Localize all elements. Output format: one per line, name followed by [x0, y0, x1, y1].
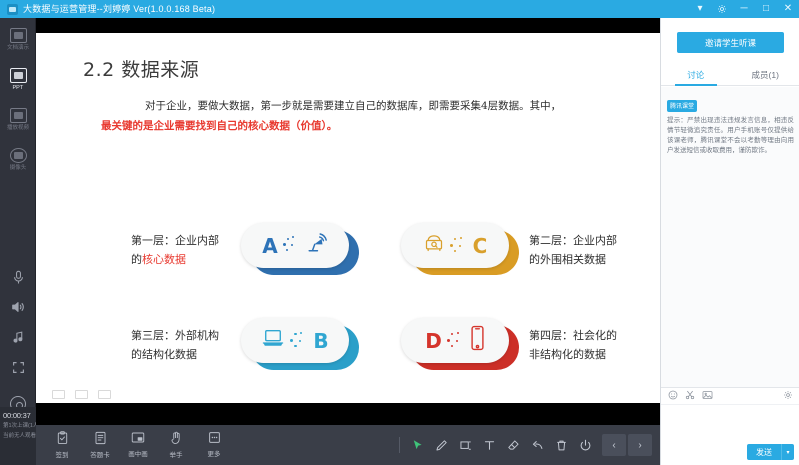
layer-1-label-line2: 的核心数据 — [131, 250, 219, 269]
bottom-item-checkin[interactable]: 签到 — [44, 431, 80, 460]
answer-card-icon — [94, 431, 107, 450]
slide-paragraph: 对于企业，要做大数据，第一步就是需要建立自己的数据库，即需要采集4层数据。其中，… — [101, 96, 601, 136]
more-icon — [208, 431, 221, 449]
bottom-item-label: 画中画 — [128, 451, 148, 459]
slide-control-2-icon[interactable] — [75, 390, 88, 399]
chat-message-list[interactable]: 腾讯课堂 提示：严禁出现违法违规发言信息，相违反情节轻微追究责任。用户手机账号仅… — [661, 87, 799, 387]
smartphone-icon — [470, 325, 485, 356]
layer-2-pill: C — [401, 223, 519, 275]
layer-2-letter: C — [473, 234, 488, 258]
layer-1-pill-face: A — [241, 223, 349, 268]
gear-icon[interactable] — [783, 387, 793, 405]
emoji-icon[interactable] — [668, 387, 678, 405]
speaker-icon[interactable] — [0, 292, 36, 322]
undo-icon[interactable] — [526, 434, 548, 456]
sidebar-item-video[interactable]: 播放视频 — [0, 98, 36, 138]
slide-title: 2.2 数据来源 — [83, 55, 199, 82]
app-window: 大数据与运营管理--刘婷婷 Ver(1.0.0.168 Beta) ▾ ─ □ … — [0, 0, 799, 465]
ppt-icon — [10, 68, 27, 83]
menu-caret-icon[interactable]: ▾ — [689, 0, 711, 18]
music-icon[interactable] — [0, 322, 36, 352]
telephone-icon — [423, 233, 445, 258]
shape-icon[interactable] — [454, 434, 476, 456]
laptop-icon — [261, 328, 285, 353]
bottom-item-label: 举手 — [170, 452, 183, 460]
send-controls: 发送 ▾ — [747, 444, 794, 460]
layer-1-label-line1: 第一层：企业内部 — [131, 231, 219, 250]
sidebar-item-label: 文档演示 — [7, 45, 29, 51]
layer-4-label-line2: 非结构化的数据 — [529, 345, 617, 364]
layer-2-dots — [449, 235, 469, 257]
bottom-item-label: 更多 — [208, 451, 221, 459]
bottom-item-raise-hand[interactable]: 举手 — [158, 431, 194, 460]
minimize-button[interactable]: ─ — [733, 0, 755, 18]
video-icon — [10, 108, 27, 123]
bottom-item-answer-card[interactable]: 答题卡 — [82, 431, 118, 460]
laser-pointer-icon[interactable] — [574, 434, 596, 456]
layer-4-pill: D — [401, 318, 519, 370]
elapsed-time: 00:00:37 — [3, 411, 34, 420]
annotation-tools — [395, 434, 602, 456]
bottom-item-pip[interactable]: 画中画 — [120, 431, 156, 459]
timer-viewer-info: 当前无人观看直播 — [3, 433, 34, 440]
presentation-stage: 2.2 数据来源 对于企业，要做大数据，第一步就是需要建立自己的数据库，即需要采… — [36, 18, 660, 425]
fullscreen-icon[interactable] — [0, 352, 36, 382]
title-bar: 大数据与运营管理--刘婷婷 Ver(1.0.0.168 Beta) ▾ ─ □ … — [0, 0, 799, 18]
image-icon[interactable] — [702, 387, 713, 405]
bottom-toolbar-left-group: 签到 答题卡 画中画 — [36, 431, 232, 460]
sidebar-item-label: PPT — [13, 85, 24, 91]
sidebar-item-label: 播放视频 — [7, 125, 29, 131]
next-slide-button[interactable]: › — [628, 434, 652, 456]
checkin-icon — [56, 431, 69, 450]
bottom-item-label: 答题卡 — [90, 452, 110, 460]
sidebar-item-document[interactable]: 文档演示 — [0, 18, 36, 58]
text-icon[interactable] — [478, 434, 500, 456]
cursor-icon[interactable] — [406, 434, 428, 456]
layer-1-pill: A — [241, 223, 359, 275]
slide-footer-controls[interactable] — [52, 390, 111, 399]
raise-hand-icon — [170, 431, 182, 450]
paragraph-line-2-highlight: 最关键的是企业需要找到自己的核心数据（价值）。 — [101, 116, 601, 136]
prev-slide-button[interactable]: ‹ — [602, 434, 626, 456]
layer-2-label: 第二层：企业内部 的外围相关数据 — [529, 231, 617, 269]
left-sidebar: 文档演示 PPT 播放视频 摄像头 — [0, 18, 36, 465]
layer-1-label: 第一层：企业内部 的核心数据 — [131, 231, 219, 269]
timer-session-info: 第1次上课(1人) — [3, 423, 34, 430]
layer-3-pill-face: B — [241, 318, 349, 363]
window-title: 大数据与运营管理--刘婷婷 Ver(1.0.0.168 Beta) — [23, 0, 215, 18]
app-logo-icon — [7, 4, 18, 15]
layer-1-label-prefix: 的 — [131, 253, 142, 266]
sidebar-gap — [0, 178, 35, 262]
panel-tabs: 讨论 成员(1) — [661, 64, 799, 86]
layer-3-label-line1: 第三层：外部机构 — [131, 326, 219, 345]
slide-control-3-icon[interactable] — [98, 390, 111, 399]
delete-icon[interactable] — [550, 434, 572, 456]
slide-pager: ‹ › — [602, 434, 660, 456]
window-controls: ▾ ─ □ ✕ — [689, 0, 799, 18]
layer-3-pill: B — [241, 318, 359, 370]
sidebar-item-label: 摄像头 — [10, 165, 27, 171]
layer-4-letter: D — [425, 329, 442, 353]
tab-members[interactable]: 成员(1) — [731, 64, 799, 85]
scissors-icon[interactable] — [685, 387, 695, 405]
message-input[interactable] — [661, 405, 799, 441]
layer-1-label-highlight: 核心数据 — [142, 253, 186, 266]
toolbar-divider — [399, 437, 400, 453]
composer-toolbar — [661, 388, 799, 405]
layer-2-label-line2: 的外围相关数据 — [529, 250, 617, 269]
document-icon — [10, 28, 27, 43]
slide-control-1-icon[interactable] — [52, 390, 65, 399]
layer-3-label-line2: 的结构化数据 — [131, 345, 219, 364]
camera-icon — [10, 148, 27, 163]
bottom-item-label: 签到 — [56, 452, 69, 460]
class-timer-panel: 00:00:37 第1次上课(1人) 当前无人观看直播 — [0, 407, 36, 465]
bottom-toolbar: 签到 答题卡 画中画 — [36, 425, 660, 465]
eraser-icon[interactable] — [502, 434, 524, 456]
send-options-caret-icon[interactable]: ▾ — [781, 444, 794, 460]
send-button[interactable]: 发送 — [747, 444, 781, 460]
sidebar-item-ppt[interactable]: PPT — [0, 58, 36, 98]
layer-1-letter: A — [262, 234, 277, 258]
satellite-dish-icon — [306, 232, 328, 259]
layer-4-label-line1: 第四层：社会化的 — [529, 326, 617, 345]
sidebar-item-camera[interactable]: 摄像头 — [0, 138, 36, 178]
layer-4-pill-face: D — [401, 318, 509, 363]
message-composer: 发送 ▾ — [661, 387, 799, 465]
microphone-icon[interactable] — [0, 262, 36, 292]
layer-3-label: 第三层：外部机构 的结构化数据 — [131, 326, 219, 364]
layer-1-dots — [282, 235, 302, 257]
layer-2-pill-face: C — [401, 223, 509, 268]
layer-4-label: 第四层：社会化的 非结构化的数据 — [529, 326, 617, 364]
bottom-item-more[interactable]: 更多 — [196, 431, 232, 459]
right-panel: 邀请学生听课 讨论 成员(1) 腾讯课堂 提示：严禁出现违法违规发言信息，相违反… — [660, 18, 799, 465]
close-button[interactable]: ✕ — [777, 0, 799, 18]
layer-2-label-line1: 第二层：企业内部 — [529, 231, 617, 250]
pen-icon[interactable] — [430, 434, 452, 456]
pip-icon — [131, 431, 145, 449]
paragraph-line-1: 对于企业，要做大数据，第一步就是需要建立自己的数据库，即需要采集4层数据。其中， — [101, 96, 601, 116]
invite-students-button[interactable]: 邀请学生听课 — [677, 32, 784, 53]
layer-4-dots — [446, 330, 466, 352]
notice-message-text: 提示：严禁出现违法违规发言信息，相违反情节轻微追究责任。用户手机账号仅提供给该课… — [667, 116, 794, 156]
tab-discussion[interactable]: 讨论 — [661, 64, 731, 85]
settings-gear-icon[interactable] — [711, 0, 733, 18]
notice-badge: 腾讯课堂 — [667, 100, 697, 112]
layer-3-letter: B — [313, 329, 328, 353]
maximize-button[interactable]: □ — [755, 0, 777, 18]
layer-3-dots — [289, 330, 309, 352]
slide-canvas[interactable]: 2.2 数据来源 对于企业，要做大数据，第一步就是需要建立自己的数据库，即需要采… — [36, 33, 660, 403]
